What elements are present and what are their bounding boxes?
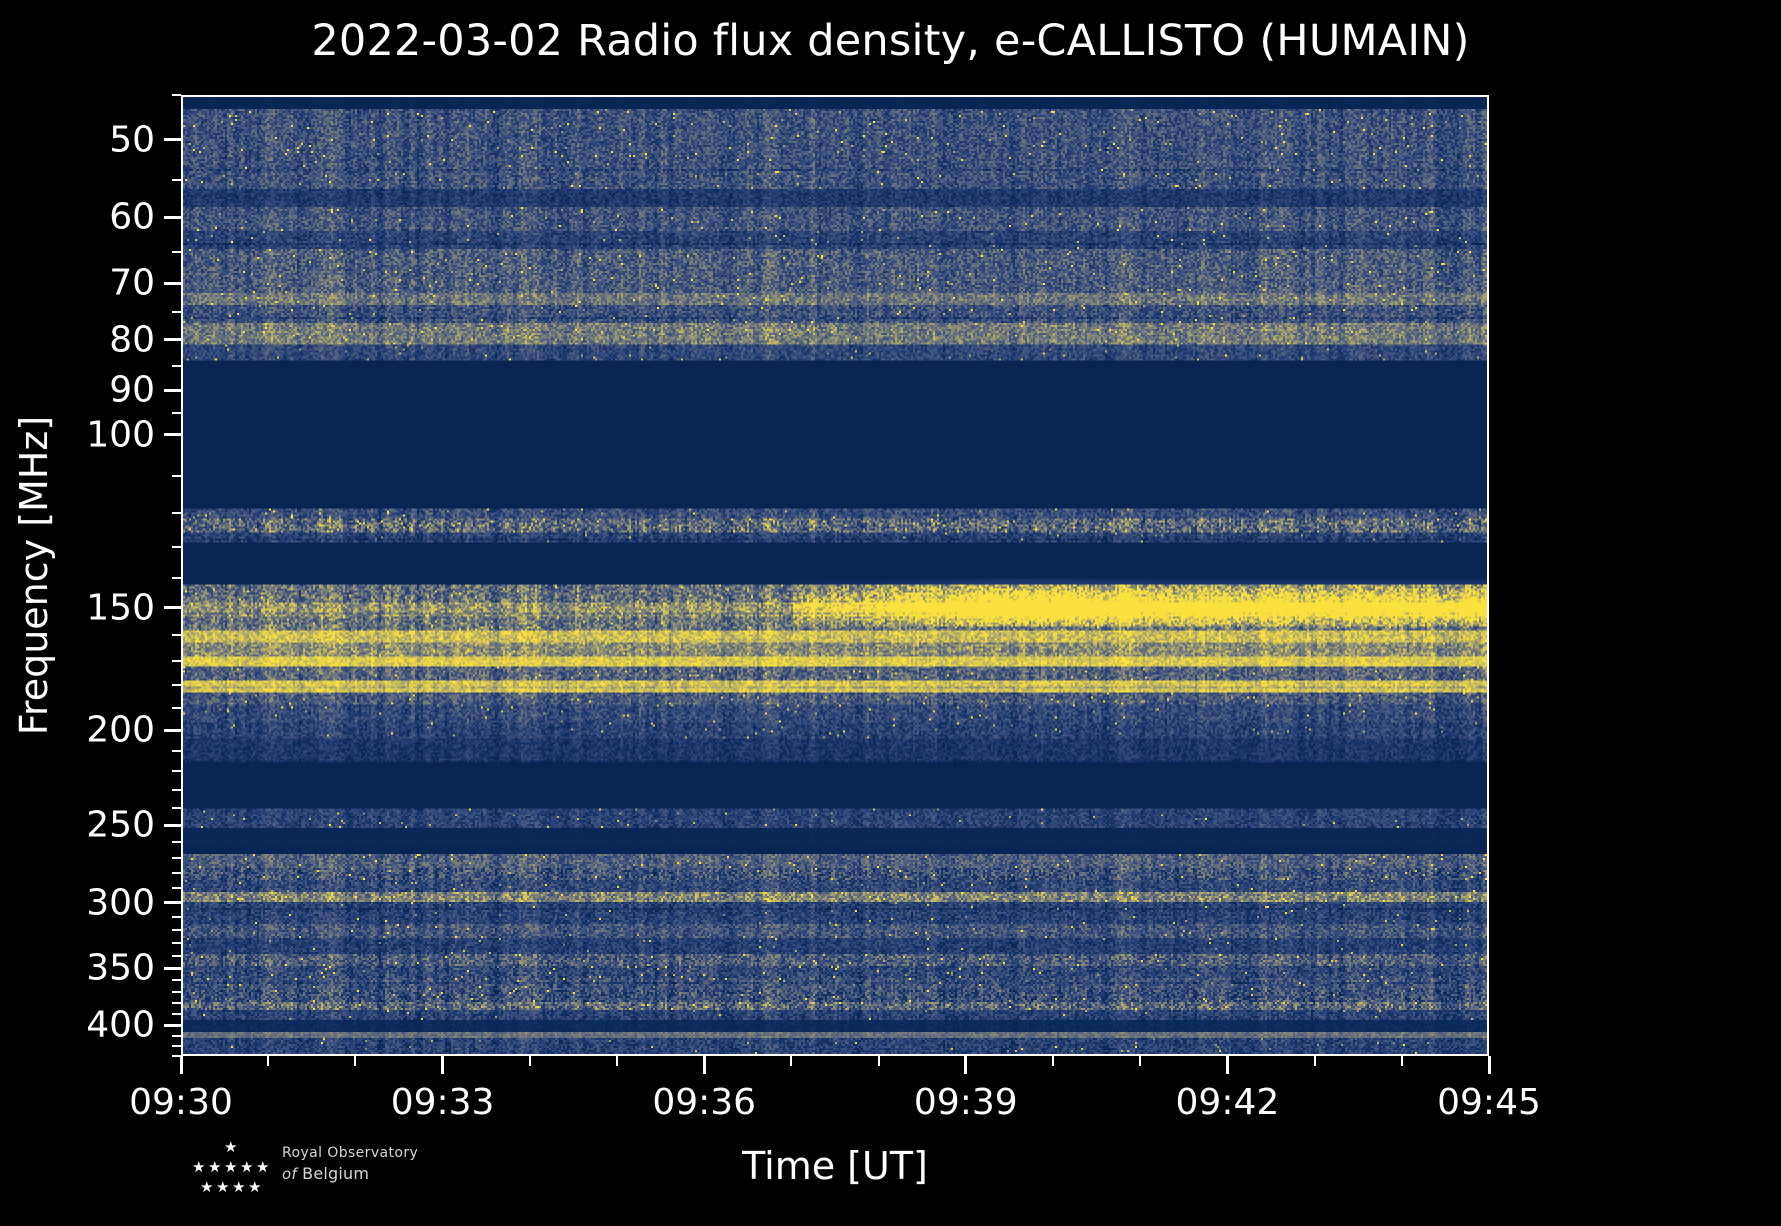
y-axis-tick-label: 50 xyxy=(109,119,155,160)
y-axis-minor-tick xyxy=(172,916,181,918)
y-axis-minor-tick xyxy=(172,251,181,253)
x-axis-minor-tick xyxy=(354,1056,356,1066)
y-axis-tick xyxy=(164,338,181,341)
star-icon: ★ xyxy=(192,1160,205,1175)
x-axis-tick-label: 09:39 xyxy=(914,1082,1018,1123)
y-axis-minor-tick xyxy=(172,1035,181,1037)
y-axis-minor-tick xyxy=(172,707,181,709)
y-axis-minor-tick xyxy=(172,94,181,96)
x-axis-minor-tick xyxy=(878,1056,880,1066)
y-axis-minor-tick xyxy=(172,512,181,514)
y-axis-minor-tick xyxy=(172,1002,181,1004)
y-axis-tick xyxy=(164,606,181,609)
y-axis-tick-label: 150 xyxy=(86,587,155,628)
logo-line-1: Royal Observatory xyxy=(282,1145,418,1161)
y-axis-tick-label: 300 xyxy=(86,882,155,923)
star-icon: ★ xyxy=(256,1160,269,1175)
y-axis-minor-tick xyxy=(172,412,181,414)
star-icon: ★ xyxy=(224,1140,237,1155)
star-icon: ★ xyxy=(208,1160,221,1175)
y-axis-minor-tick xyxy=(172,991,181,993)
star-icon: ★ xyxy=(232,1180,245,1195)
x-axis-minor-tick xyxy=(1314,1056,1316,1066)
y-axis-tick xyxy=(164,824,181,827)
y-axis-tick xyxy=(164,1024,181,1027)
star-icon: ★ xyxy=(224,1160,237,1175)
y-axis-tick-label: 100 xyxy=(86,414,155,455)
x-axis-tick xyxy=(1488,1056,1491,1074)
x-axis-minor-tick xyxy=(1052,1056,1054,1066)
star-icon: ★ xyxy=(216,1180,229,1195)
y-axis-minor-tick xyxy=(172,365,181,367)
y-axis-label: Frequency [MHz] xyxy=(12,95,68,1056)
y-axis-minor-tick xyxy=(172,684,181,686)
y-axis-minor-tick xyxy=(172,750,181,752)
logo-text: Royal Observatory of Belgium xyxy=(282,1145,418,1183)
y-axis-minor-tick xyxy=(172,1045,181,1047)
x-axis-tick-label: 09:42 xyxy=(1176,1082,1280,1123)
y-axis-minor-tick xyxy=(172,546,181,548)
y-axis-tick-label: 80 xyxy=(109,319,155,360)
y-axis-tick xyxy=(164,216,181,219)
x-axis-minor-tick xyxy=(616,1056,618,1066)
x-axis-tick xyxy=(441,1056,444,1074)
x-axis-minor-tick xyxy=(1401,1056,1403,1066)
y-axis-tick xyxy=(164,389,181,392)
y-axis-minor-tick xyxy=(172,634,181,636)
eu-stars-icon: ★★★★★★★★★★ xyxy=(176,1138,276,1196)
y-axis-minor-tick xyxy=(172,1013,181,1015)
figure-root: 2022-03-02 Radio flux density, e-CALLIST… xyxy=(0,0,1781,1226)
y-axis-minor-tick xyxy=(172,929,181,931)
x-axis-tick xyxy=(180,1056,183,1074)
x-axis-tick xyxy=(1226,1056,1229,1074)
y-axis-minor-tick xyxy=(172,841,181,843)
y-axis-minor-tick xyxy=(172,857,181,859)
y-axis-tick xyxy=(164,729,181,732)
y-axis-minor-tick xyxy=(172,179,181,181)
y-axis-minor-tick xyxy=(172,955,181,957)
x-axis-minor-tick xyxy=(1139,1056,1141,1066)
y-axis-tick xyxy=(164,433,181,436)
y-axis-minor-tick xyxy=(172,770,181,772)
y-axis-minor-tick xyxy=(172,979,181,981)
y-axis-minor-tick xyxy=(172,872,181,874)
x-axis-minor-tick xyxy=(529,1056,531,1066)
x-axis-tick-label: 09:33 xyxy=(391,1082,495,1123)
y-axis-minor-tick xyxy=(172,887,181,889)
y-axis-tick xyxy=(164,967,181,970)
y-axis-minor-tick xyxy=(172,311,181,313)
logo-of-word: of xyxy=(282,1165,297,1183)
x-axis-tick-label: 09:36 xyxy=(652,1082,756,1123)
y-axis-tick-label: 200 xyxy=(86,710,155,751)
x-axis-tick xyxy=(703,1056,706,1074)
x-axis: 09:3009:3309:3609:3909:4209:45 xyxy=(181,1056,1489,1146)
star-icon: ★ xyxy=(240,1160,253,1175)
royal-observatory-logo: ★★★★★★★★★★ Royal Observatory of Belgium xyxy=(176,1138,486,1200)
logo-line-2: of Belgium xyxy=(282,1164,418,1183)
y-axis-minor-tick xyxy=(172,942,181,944)
y-axis-minor-tick xyxy=(172,475,181,477)
y-axis-tick-label: 70 xyxy=(109,263,155,304)
y-axis-tick xyxy=(164,901,181,904)
y-axis-tick-label: 60 xyxy=(109,197,155,238)
y-axis-tick-label: 400 xyxy=(86,1005,155,1046)
y-axis-minor-tick xyxy=(172,660,181,662)
y-axis-tick xyxy=(164,282,181,285)
x-axis-minor-tick xyxy=(267,1056,269,1066)
y-axis-minor-tick xyxy=(172,577,181,579)
y-axis-tick-label: 350 xyxy=(86,948,155,989)
x-axis-tick xyxy=(964,1056,967,1074)
x-axis-minor-tick xyxy=(790,1056,792,1066)
y-axis-tick-label: 90 xyxy=(109,370,155,411)
spectrogram-plot-area xyxy=(181,95,1489,1056)
x-axis-tick-label: 09:30 xyxy=(129,1082,233,1123)
y-axis-tick xyxy=(164,138,181,141)
spectrogram-canvas xyxy=(181,95,1489,1056)
y-axis-minor-tick xyxy=(172,789,181,791)
y-axis-tick-label: 250 xyxy=(86,805,155,846)
star-icon: ★ xyxy=(200,1180,213,1195)
x-axis-tick-label: 09:45 xyxy=(1437,1082,1541,1123)
chart-title: 2022-03-02 Radio flux density, e-CALLIST… xyxy=(0,16,1781,66)
star-icon: ★ xyxy=(248,1180,261,1195)
logo-belgium-word: Belgium xyxy=(302,1164,369,1183)
y-axis-minor-tick xyxy=(172,807,181,809)
